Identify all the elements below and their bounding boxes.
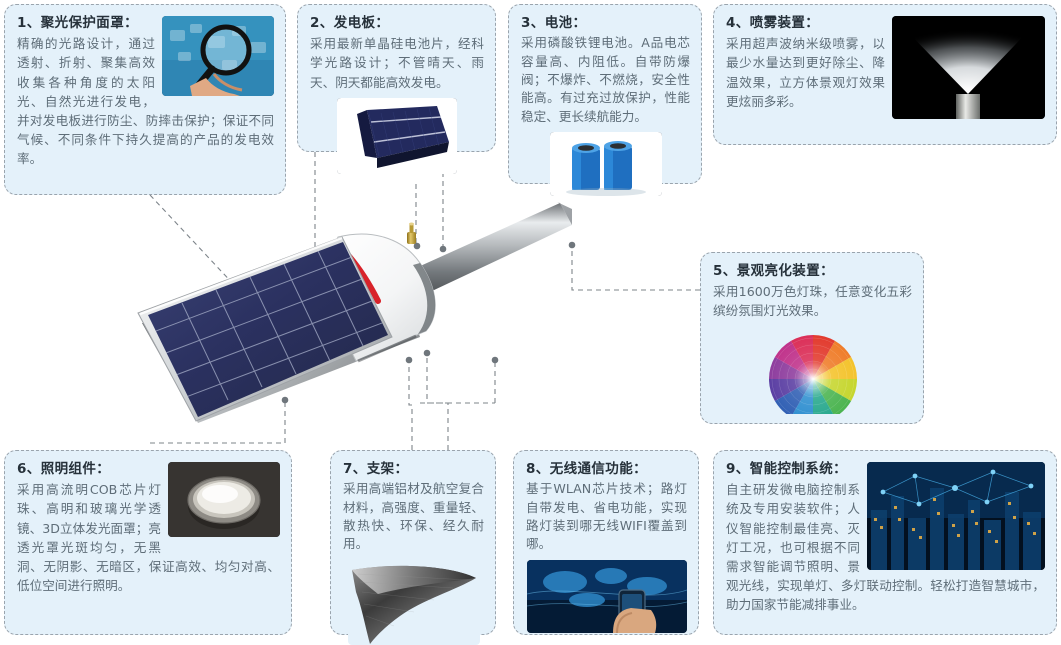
carbon-bracket-photo bbox=[348, 560, 480, 645]
optical-lens-photo bbox=[168, 462, 280, 537]
card-body: 采用1600万色灯珠，任意变化五彩缤纷氛围灯光效果。 bbox=[713, 282, 912, 320]
card-body: 基于WLAN芯片技术；路灯自带发电、省电功能，实现路灯装到哪无线WIFI覆盖到哪… bbox=[526, 480, 687, 554]
solar-cell-photo bbox=[337, 98, 457, 174]
magnifier-photo bbox=[162, 16, 274, 96]
mist-nozzle-photo bbox=[892, 16, 1045, 119]
feature-card-smart-control[interactable]: 9、智能控制系统： 自主研发微电脑控制系统及专用安装软件；人仪智能控制最佳亮、灭… bbox=[713, 450, 1057, 635]
card-body: 采用高端铝材及航空复合材料，高强度、重量轻、散热快、环保、经久耐用。 bbox=[343, 480, 484, 554]
color-wheel-photo bbox=[758, 327, 868, 415]
feature-card-solar-panel[interactable]: 2、发电板： 采用最新单晶硅电池片，经科学光路设计；不管晴天、雨天、阴天都能高效… bbox=[297, 4, 496, 152]
card-title: 8、无线通信功能： bbox=[526, 460, 687, 478]
product-illustration bbox=[120, 185, 640, 465]
smart-city-photo bbox=[867, 462, 1045, 570]
card-title: 2、发电板： bbox=[310, 14, 484, 32]
feature-card-landscape-lighting[interactable]: 5、景观亮化装置： 采用1600万色灯珠，任意变化五彩缤纷氛围灯光效果。 bbox=[700, 252, 924, 424]
feature-card-bracket[interactable]: 7、支架： 采用高端铝材及航空复合材料，高强度、重量轻、散热快、环保、经久耐用。 bbox=[330, 450, 496, 635]
feature-card-battery[interactable]: 3、电池： 采用磷酸铁锂电池。A品电芯容量高、内阻低。自带防爆阀；不爆炸、不燃烧… bbox=[508, 4, 702, 184]
mist-nozzle bbox=[407, 223, 416, 245]
feature-card-lighting-module[interactable]: 6、照明组件： 采用高流明COB芯片灯珠、高明和玻璃光学透镜、3D立体发光面罩；… bbox=[4, 450, 292, 635]
solar-street-light-svg bbox=[120, 185, 640, 465]
card-body: 采用最新单晶硅电池片，经科学光路设计；不管晴天、雨天、阴天都能高效发电。 bbox=[310, 34, 484, 91]
lithium-battery-photo bbox=[550, 132, 662, 196]
card-title: 3、电池： bbox=[521, 14, 690, 32]
light-pole bbox=[418, 202, 572, 291]
feature-card-wireless[interactable]: 8、无线通信功能： 基于WLAN芯片技术；路灯自带发电、省电功能，实现路灯装到哪… bbox=[513, 450, 699, 635]
card-title: 5、景观亮化装置： bbox=[713, 262, 912, 280]
card-title: 7、支架： bbox=[343, 460, 484, 478]
feature-card-mist-device[interactable]: 4、喷雾装置： 采用超声波纳米级喷雾，以最少水量达到更好除尘、降温效果，立方体景… bbox=[713, 4, 1057, 145]
wireless-globe-photo bbox=[527, 560, 687, 633]
feature-card-lens-cover[interactable]: 1、聚光保护面罩： 精确的光路设计，通过透射、折射、聚集高效收集各种角度的太阳光… bbox=[4, 4, 286, 195]
card-body: 采用磷酸铁锂电池。A品电芯容量高、内阻低。自带防爆阀；不爆炸、不燃烧，安全性能高… bbox=[521, 34, 690, 126]
